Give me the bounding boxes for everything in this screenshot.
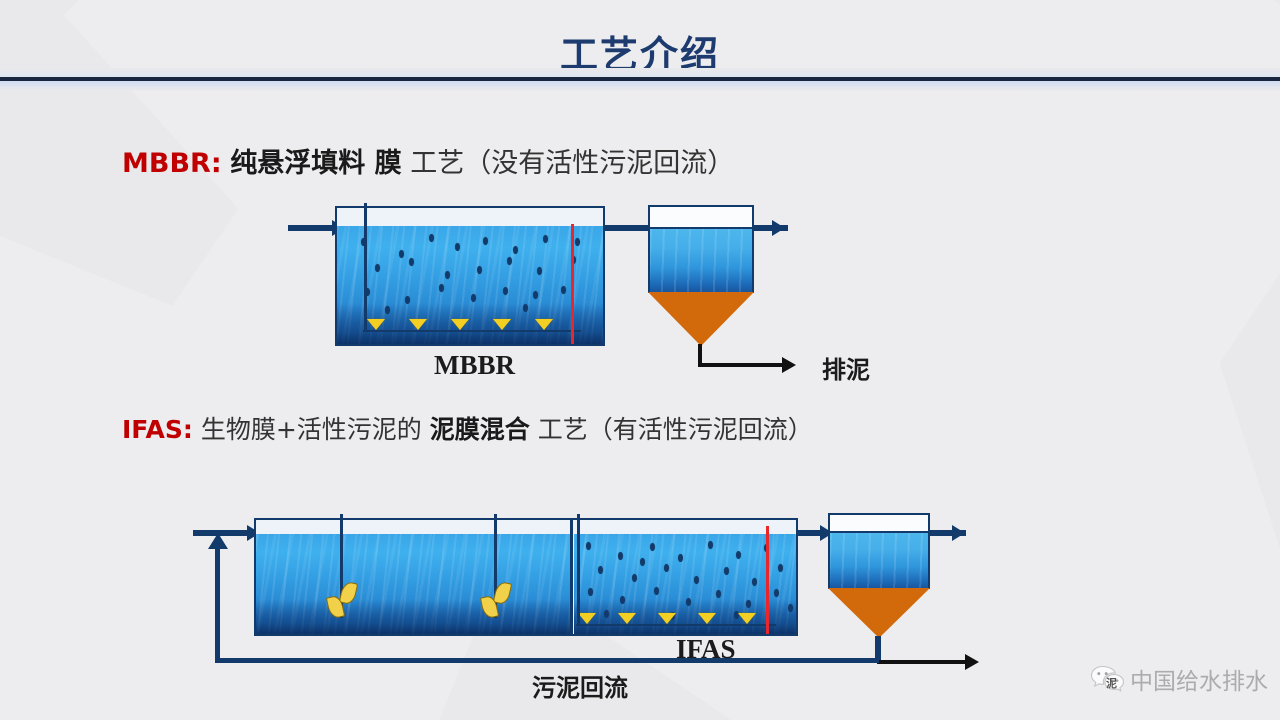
wechat-icon: 泥 — [1090, 665, 1124, 693]
headline-mbbr: MBBR: 纯悬浮填料 膜 工艺（没有活性污泥回流） — [122, 141, 734, 180]
headline-mbbr-strong: 纯悬浮填料 膜 — [230, 148, 401, 179]
ifas-tank-caption: IFAS — [676, 634, 736, 665]
mbbr-sludge-arrow-icon — [782, 357, 796, 373]
ifas-effluent-arrow-icon — [952, 525, 965, 541]
mbbr-tank-to-clarifier-pipe — [605, 225, 650, 231]
ifas-diffuser-2 — [618, 613, 636, 624]
mbbr-sludge-run-pipe — [698, 363, 786, 367]
ifas-return-caption: 污泥回流 — [532, 668, 628, 703]
slide-header: 工艺介绍 — [0, 0, 1280, 90]
ifas-clarifier-sludge-hopper — [828, 588, 930, 638]
mbbr-diffuser-4 — [493, 319, 511, 330]
mbbr-air-downcomer — [364, 203, 367, 331]
ifas-ras-riser-pipe — [215, 548, 220, 660]
ifas-clarifier-freeboard — [828, 513, 930, 533]
ifas-waste-arrow-icon — [965, 654, 979, 670]
mbbr-sludge-caption: 排泥 — [822, 350, 870, 385]
ifas-diffuser-4 — [698, 613, 716, 624]
watermark: 泥 中国给水排水 — [1090, 662, 1268, 696]
ifas-diffuser-5 — [738, 613, 756, 624]
ifas-sludge-drop-pipe — [875, 636, 881, 660]
mbbr-effluent-arrow-icon — [772, 220, 785, 236]
watermark-text: 中国给水排水 — [1130, 662, 1268, 696]
headline-ifas-normal-tail: 工艺（有活性污泥回流） — [538, 415, 813, 444]
mbbr-membrane-line — [571, 224, 574, 344]
ifas-air-downcomer — [577, 514, 580, 624]
ifas-waste-run-pipe — [877, 660, 969, 664]
diagram-stage: MBBR 排泥 — [0, 0, 1280, 720]
mbbr-diffuser-5 — [535, 319, 553, 330]
ifas-membrane-line — [766, 526, 769, 634]
header-rule-glow-top — [0, 68, 1280, 77]
headline-mbbr-tag: MBBR: — [122, 148, 222, 179]
ifas-diffuser-1 — [578, 613, 596, 624]
mbbr-diffuser-1 — [367, 319, 385, 330]
headline-mbbr-normal: 工艺（没有活性污泥回流） — [410, 148, 734, 179]
watermark-badge: 泥 — [1106, 675, 1117, 691]
ifas-anoxic-water — [256, 534, 570, 634]
mbbr-tank-caption: MBBR — [434, 350, 515, 381]
headline-ifas-strong: 泥膜混合 — [430, 415, 530, 444]
ifas-tank — [254, 518, 798, 636]
mbbr-tank — [335, 206, 605, 346]
mbbr-clarifier-sludge-hopper — [648, 292, 754, 346]
header-rule-glow-bottom — [0, 81, 1280, 90]
ifas-diffuser-3 — [658, 613, 676, 624]
mbbr-diffuser-3 — [451, 319, 469, 330]
ifas-aeration-header — [576, 624, 776, 626]
headline-ifas-normal-lead: 生物膜+活性污泥的 — [201, 415, 422, 444]
mbbr-clarifier-water — [648, 229, 754, 293]
mbbr-clarifier-freeboard — [648, 205, 754, 229]
mbbr-aeration-header — [363, 330, 581, 332]
ifas-ras-arrow-icon — [208, 533, 228, 549]
ifas-zone-divider-wall — [570, 520, 573, 636]
ifas-aerobic-water — [574, 534, 796, 634]
ifas-ras-bottom-pipe — [215, 658, 879, 663]
ifas-clarifier-water — [828, 533, 930, 589]
headline-ifas-tag: IFAS: — [122, 415, 193, 444]
headline-ifas: IFAS: 生物膜+活性污泥的 泥膜混合 工艺（有活性污泥回流） — [122, 410, 813, 446]
mbbr-diffuser-2 — [409, 319, 427, 330]
